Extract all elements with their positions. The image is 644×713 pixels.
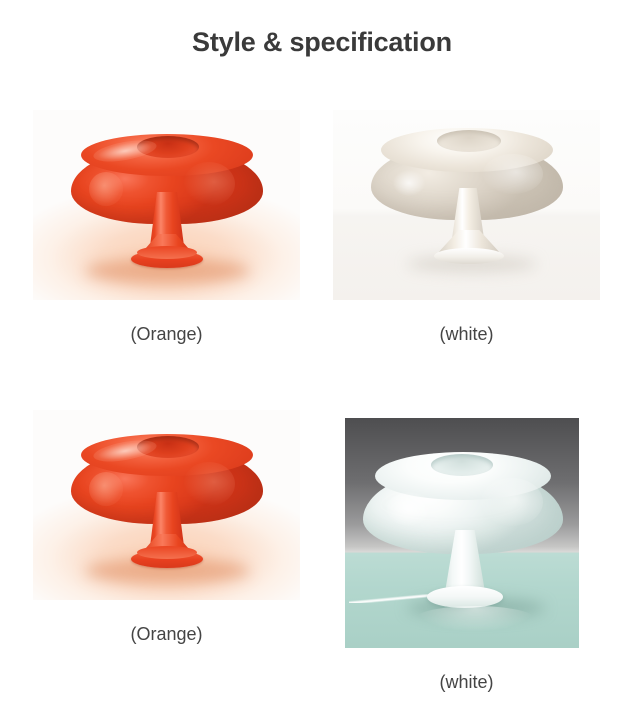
product-photo-white-bottom[interactable]: [345, 418, 579, 648]
lamp-shade-hole: [137, 436, 199, 458]
gallery-item-white-bottom[interactable]: (white): [333, 410, 600, 694]
lamp-base-rim: [137, 546, 197, 559]
product-photo-caption: (white): [333, 322, 600, 346]
product-photo-orange-bottom[interactable]: [33, 410, 300, 600]
product-photo-caption: (Orange): [33, 322, 300, 346]
photo-background: [345, 418, 579, 648]
product-detail-page: Style & specification (: [0, 0, 644, 713]
gallery-item-white-top[interactable]: (white): [333, 110, 600, 346]
lamp-base: [427, 586, 503, 608]
lamp-base-rim: [137, 246, 197, 259]
lamp-shade-hole: [437, 130, 501, 152]
gallery-item-orange-bottom[interactable]: (Orange): [33, 410, 300, 646]
lamp-base: [434, 248, 504, 264]
lamp-shade-hole: [431, 454, 493, 476]
product-photo-orange-top[interactable]: [33, 110, 300, 300]
photo-background: [33, 110, 300, 300]
table-reflection: [415, 606, 535, 632]
lamp-shade-hole: [137, 136, 199, 158]
photo-background: [333, 110, 600, 300]
product-photo-caption: (Orange): [33, 622, 300, 646]
gallery-item-orange-top[interactable]: (Orange): [33, 110, 300, 346]
page-title: Style & specification: [0, 24, 644, 60]
photo-background: [33, 410, 300, 600]
product-photo-white-top[interactable]: [333, 110, 600, 300]
product-photo-caption: (white): [333, 670, 600, 694]
